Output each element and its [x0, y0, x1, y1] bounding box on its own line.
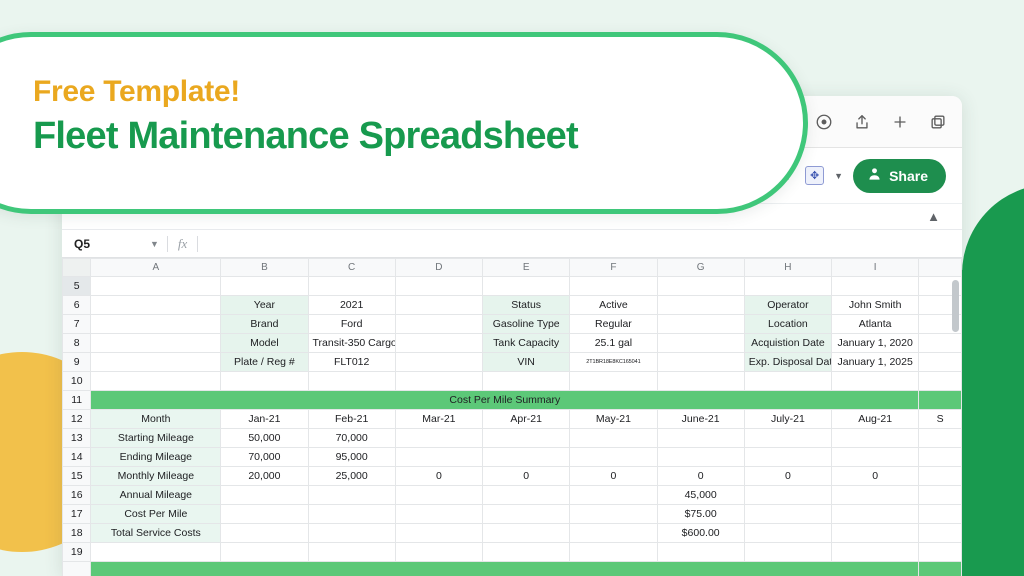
- cell-total-service-costs-label[interactable]: Total Service Costs: [91, 524, 221, 543]
- row-header-next[interactable]: [63, 562, 91, 576]
- row-header-14[interactable]: 14: [63, 448, 91, 467]
- cell[interactable]: [919, 467, 962, 486]
- cell[interactable]: [395, 486, 482, 505]
- cell[interactable]: [919, 429, 962, 448]
- cell-monthly-mileage-may[interactable]: 0: [570, 467, 657, 486]
- cell-acquisition-date-value[interactable]: January 1, 2020: [832, 334, 919, 353]
- cell[interactable]: [308, 277, 395, 296]
- cell-monthly-mileage-jan[interactable]: 20,000: [221, 467, 308, 486]
- name-box-chevron-down-icon[interactable]: ▼: [150, 239, 167, 249]
- table-row: 17 Cost Per Mile $75.00: [63, 505, 962, 524]
- new-tab-icon[interactable]: [890, 112, 910, 132]
- cell-plate-value[interactable]: FLT012: [308, 353, 395, 372]
- cell-disposal-date-label[interactable]: Exp. Disposal Date: [744, 353, 831, 372]
- summary-banner-title: Cost Per Mile Summary: [91, 391, 919, 410]
- cell-ending-mileage-aug[interactable]: [832, 448, 919, 467]
- table-row: 15 Monthly Mileage 20,000 25,000 0 0 0 0…: [63, 467, 962, 486]
- cell[interactable]: [919, 372, 962, 391]
- cell[interactable]: [657, 353, 744, 372]
- cell[interactable]: [483, 486, 570, 505]
- fx-icon: fx: [168, 236, 197, 252]
- row-header-8[interactable]: 8: [63, 334, 91, 353]
- next-section-banner: [91, 562, 919, 576]
- cell-starting-mileage-mar[interactable]: [395, 429, 482, 448]
- cell-ending-mileage-may[interactable]: [570, 448, 657, 467]
- cell-starting-mileage-july[interactable]: [744, 429, 831, 448]
- table-row: 8 Model Transit-350 Cargo Tank Capacity …: [63, 334, 962, 353]
- chevron-down-icon[interactable]: ▼: [834, 171, 843, 181]
- cell-plate-label[interactable]: Plate / Reg #: [221, 353, 308, 372]
- row-header-16[interactable]: 16: [63, 486, 91, 505]
- cell[interactable]: [395, 524, 482, 543]
- cell[interactable]: [744, 486, 831, 505]
- cell[interactable]: [919, 486, 962, 505]
- cell-starting-mileage-feb[interactable]: 70,000: [308, 429, 395, 448]
- column-header-h[interactable]: H: [744, 259, 831, 277]
- row-header-17[interactable]: 17: [63, 505, 91, 524]
- share-person-icon: [867, 167, 882, 185]
- column-header-partial[interactable]: [919, 259, 962, 277]
- table-row: 5: [63, 277, 962, 296]
- cell[interactable]: [308, 543, 395, 562]
- cell-model-label[interactable]: Model: [221, 334, 308, 353]
- cell[interactable]: [919, 524, 962, 543]
- cell-year-value[interactable]: 2021: [308, 296, 395, 315]
- cell[interactable]: [308, 372, 395, 391]
- cell-total-service-costs-value[interactable]: $600.00: [657, 524, 744, 543]
- cell[interactable]: [919, 448, 962, 467]
- cell-monthly-mileage-july[interactable]: 0: [744, 467, 831, 486]
- cell[interactable]: [832, 277, 919, 296]
- share-button-label: Share: [889, 168, 928, 184]
- cell-ending-mileage-feb[interactable]: 95,000: [308, 448, 395, 467]
- row-header-6[interactable]: 6: [63, 296, 91, 315]
- cell[interactable]: [91, 296, 221, 315]
- cell[interactable]: [832, 524, 919, 543]
- cell-monthly-mileage-june[interactable]: 0: [657, 467, 744, 486]
- table-row: 12 Month Jan-21 Feb-21 Mar-21 Apr-21 May…: [63, 410, 962, 429]
- cell-starting-mileage-aug[interactable]: [832, 429, 919, 448]
- cell-acquisition-date-label[interactable]: Acquistion Date: [744, 334, 831, 353]
- cell[interactable]: [744, 543, 831, 562]
- cell[interactable]: [919, 391, 962, 410]
- table-row: 10: [63, 372, 962, 391]
- tab-overview-icon[interactable]: [928, 112, 948, 132]
- row-header-9[interactable]: 9: [63, 353, 91, 372]
- cell-month-jan[interactable]: Jan-21: [221, 410, 308, 429]
- cell-reference-button[interactable]: ✥: [805, 166, 824, 185]
- cell[interactable]: [221, 505, 308, 524]
- cell-monthly-mileage-label[interactable]: Monthly Mileage: [91, 467, 221, 486]
- cell[interactable]: [657, 543, 744, 562]
- cell[interactable]: [570, 277, 657, 296]
- promo-card: Free Template! Fleet Maintenance Spreads…: [0, 32, 808, 214]
- row-header-15[interactable]: 15: [63, 467, 91, 486]
- cell-gasoline-type-value[interactable]: Regular: [570, 315, 657, 334]
- row-header-19[interactable]: 19: [63, 543, 91, 562]
- cell[interactable]: [91, 277, 221, 296]
- cell[interactable]: [919, 505, 962, 524]
- cell[interactable]: [657, 334, 744, 353]
- cell[interactable]: [483, 543, 570, 562]
- column-header-f[interactable]: F: [570, 259, 657, 277]
- row-header-18[interactable]: 18: [63, 524, 91, 543]
- cell[interactable]: [919, 353, 962, 372]
- cell[interactable]: [483, 372, 570, 391]
- cell[interactable]: [657, 372, 744, 391]
- cell[interactable]: [483, 505, 570, 524]
- cell-ending-mileage-june[interactable]: [657, 448, 744, 467]
- cell[interactable]: [919, 334, 962, 353]
- cell-ending-mileage-july[interactable]: [744, 448, 831, 467]
- cell-gasoline-type-label[interactable]: Gasoline Type: [483, 315, 570, 334]
- cell[interactable]: [832, 486, 919, 505]
- table-row: 19: [63, 543, 962, 562]
- cell-monthly-mileage-feb[interactable]: 25,000: [308, 467, 395, 486]
- column-header-a[interactable]: A: [91, 259, 221, 277]
- cell[interactable]: [570, 372, 657, 391]
- decorative-green-strip: [962, 270, 1024, 576]
- table-row: 14 Ending Mileage 70,000 95,000: [63, 448, 962, 467]
- column-header-row: A B C D E F G H I: [63, 259, 962, 277]
- cell[interactable]: [744, 505, 831, 524]
- cell-month-label[interactable]: Month: [91, 410, 221, 429]
- name-box[interactable]: Q5: [62, 237, 150, 251]
- share-icon[interactable]: [852, 112, 872, 132]
- cell-month-may[interactable]: May-21: [570, 410, 657, 429]
- cell-annual-mileage-value[interactable]: 45,000: [657, 486, 744, 505]
- cell[interactable]: [657, 315, 744, 334]
- record-circle-icon[interactable]: [814, 112, 834, 132]
- cell-month-july[interactable]: July-21: [744, 410, 831, 429]
- cell[interactable]: [91, 334, 221, 353]
- cell[interactable]: [221, 277, 308, 296]
- column-header-e[interactable]: E: [483, 259, 570, 277]
- cell[interactable]: [308, 524, 395, 543]
- cell[interactable]: [919, 562, 962, 576]
- chevron-up-icon[interactable]: ▲: [927, 210, 940, 223]
- cell[interactable]: [657, 277, 744, 296]
- promo-headline: Fleet Maintenance Spreadsheet: [33, 115, 578, 158]
- column-header-b[interactable]: B: [221, 259, 308, 277]
- cell-vin-value[interactable]: 2T1BR18E8KC165041: [570, 353, 657, 372]
- column-header-g[interactable]: G: [657, 259, 744, 277]
- cell-tank-capacity-value[interactable]: 25.1 gal: [570, 334, 657, 353]
- row-header-12[interactable]: 12: [63, 410, 91, 429]
- cell-disposal-date-value[interactable]: January 1, 2025: [832, 353, 919, 372]
- column-header-i[interactable]: I: [832, 259, 919, 277]
- cell-ending-mileage-mar[interactable]: [395, 448, 482, 467]
- cell[interactable]: [91, 543, 221, 562]
- cell[interactable]: [91, 372, 221, 391]
- cell[interactable]: [395, 315, 482, 334]
- cell[interactable]: [744, 524, 831, 543]
- cell-brand-value[interactable]: Ford: [308, 315, 395, 334]
- table-row: 6 Year 2021 Status Active Operator John …: [63, 296, 962, 315]
- cell[interactable]: [483, 277, 570, 296]
- cell-annual-mileage-label[interactable]: Annual Mileage: [91, 486, 221, 505]
- cell-model-value[interactable]: Transit-350 Cargo: [308, 334, 395, 353]
- cell[interactable]: [570, 524, 657, 543]
- cell[interactable]: [308, 505, 395, 524]
- cell-ending-mileage-label[interactable]: Ending Mileage: [91, 448, 221, 467]
- cell[interactable]: [744, 277, 831, 296]
- table-row: 7 Brand Ford Gasoline Type Regular Locat…: [63, 315, 962, 334]
- cell[interactable]: [221, 543, 308, 562]
- cell[interactable]: [395, 353, 482, 372]
- vertical-scrollbar[interactable]: [952, 280, 959, 332]
- cell-ending-mileage-jan[interactable]: 70,000: [221, 448, 308, 467]
- row-header-13[interactable]: 13: [63, 429, 91, 448]
- cell[interactable]: [91, 315, 221, 334]
- cell-ending-mileage-apr[interactable]: [483, 448, 570, 467]
- cell-operator-label[interactable]: Operator: [744, 296, 831, 315]
- cell-month-aug[interactable]: Aug-21: [832, 410, 919, 429]
- cell-starting-mileage-apr[interactable]: [483, 429, 570, 448]
- divider: [197, 236, 198, 252]
- cell[interactable]: [395, 277, 482, 296]
- cell[interactable]: [395, 543, 482, 562]
- row-header-7[interactable]: 7: [63, 315, 91, 334]
- cell-year-label[interactable]: Year: [221, 296, 308, 315]
- cell[interactable]: [308, 486, 395, 505]
- cell[interactable]: [483, 524, 570, 543]
- table-row: 11 Cost Per Mile Summary: [63, 391, 962, 410]
- cell[interactable]: [395, 296, 482, 315]
- cell-reference-icon: ✥: [810, 169, 819, 182]
- cell-monthly-mileage-aug[interactable]: 0: [832, 467, 919, 486]
- row-header-5[interactable]: 5: [63, 277, 91, 296]
- cell-cost-per-mile-label[interactable]: Cost Per Mile: [91, 505, 221, 524]
- cell[interactable]: [919, 543, 962, 562]
- cell-vin-label[interactable]: VIN: [483, 353, 570, 372]
- cell[interactable]: [221, 372, 308, 391]
- table-row: 16 Annual Mileage 45,000: [63, 486, 962, 505]
- column-header-d[interactable]: D: [395, 259, 482, 277]
- cell-starting-mileage-june[interactable]: [657, 429, 744, 448]
- cell-status-label[interactable]: Status: [483, 296, 570, 315]
- cell[interactable]: [832, 372, 919, 391]
- share-button[interactable]: Share: [853, 159, 946, 193]
- cell[interactable]: [570, 505, 657, 524]
- promo-eyebrow: Free Template!: [33, 75, 578, 109]
- formula-bar: Q5 ▼ fx: [62, 230, 962, 258]
- cell-month-partial[interactable]: S: [919, 410, 962, 429]
- row-header-10[interactable]: 10: [63, 372, 91, 391]
- cell-status-value[interactable]: Active: [570, 296, 657, 315]
- column-header-c[interactable]: C: [308, 259, 395, 277]
- cell[interactable]: [91, 353, 221, 372]
- cell-location-value[interactable]: Atlanta: [832, 315, 919, 334]
- cell[interactable]: [570, 486, 657, 505]
- table-row: [63, 562, 962, 576]
- cell-monthly-mileage-mar[interactable]: 0: [395, 467, 482, 486]
- spreadsheet-grid: A B C D E F G H I 5: [62, 258, 962, 576]
- cell[interactable]: [395, 505, 482, 524]
- cell-cost-per-mile-value[interactable]: $75.00: [657, 505, 744, 524]
- cell-month-june[interactable]: June-21: [657, 410, 744, 429]
- cell[interactable]: [570, 543, 657, 562]
- table-row: 9 Plate / Reg # FLT012 VIN 2T1BR18E8KC16…: [63, 353, 962, 372]
- table-row: 18 Total Service Costs $600.00: [63, 524, 962, 543]
- cell-month-mar[interactable]: Mar-21: [395, 410, 482, 429]
- cell-month-apr[interactable]: Apr-21: [483, 410, 570, 429]
- cell-operator-value[interactable]: John Smith: [832, 296, 919, 315]
- cell[interactable]: [657, 296, 744, 315]
- grid-corner[interactable]: [63, 259, 91, 277]
- cell[interactable]: [832, 505, 919, 524]
- table-row: 13 Starting Mileage 50,000 70,000: [63, 429, 962, 448]
- cell-starting-mileage-label[interactable]: Starting Mileage: [91, 429, 221, 448]
- cell[interactable]: [832, 543, 919, 562]
- cell[interactable]: [221, 524, 308, 543]
- cell-month-feb[interactable]: Feb-21: [308, 410, 395, 429]
- cell-brand-label[interactable]: Brand: [221, 315, 308, 334]
- cell-tank-capacity-label[interactable]: Tank Capacity: [483, 334, 570, 353]
- cell[interactable]: [395, 372, 482, 391]
- cell-monthly-mileage-apr[interactable]: 0: [483, 467, 570, 486]
- cell[interactable]: [744, 372, 831, 391]
- promo-text-block: Free Template! Fleet Maintenance Spreads…: [33, 75, 578, 158]
- cell[interactable]: [395, 334, 482, 353]
- cell-starting-mileage-jan[interactable]: 50,000: [221, 429, 308, 448]
- cell-starting-mileage-may[interactable]: [570, 429, 657, 448]
- cell-location-label[interactable]: Location: [744, 315, 831, 334]
- cell[interactable]: [221, 486, 308, 505]
- row-header-11[interactable]: 11: [63, 391, 91, 410]
